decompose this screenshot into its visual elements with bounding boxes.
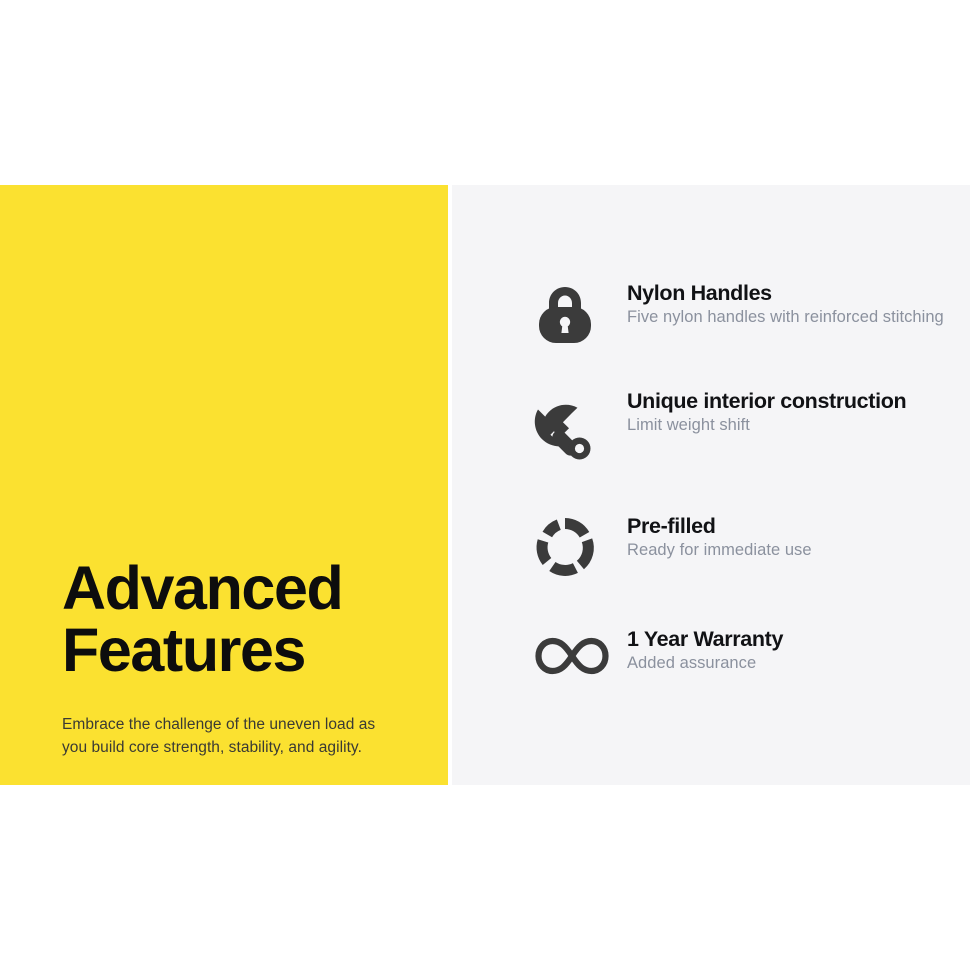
feature-description: Limit weight shift (627, 416, 957, 436)
wrench-icon (532, 400, 598, 466)
feature-text-block: Nylon Handles Five nylon handles with re… (627, 280, 957, 328)
intro-paragraph: Embrace the challenge of the uneven load… (62, 713, 392, 759)
page-title: Advanced Features (62, 557, 432, 681)
segmented-ring-icon (532, 513, 598, 579)
feature-text-block: 1 Year Warranty Added assurance (627, 626, 957, 674)
feature-title: Pre-filled (627, 513, 957, 539)
feature-text-block: Pre-filled Ready for immediate use (627, 513, 957, 561)
right-features-panel: Nylon Handles Five nylon handles with re… (452, 185, 970, 785)
lock-icon (532, 281, 598, 347)
page-title-line-1: Advanced (62, 557, 432, 619)
slide-canvas: Advanced Features Embrace the challenge … (0, 0, 970, 970)
feature-description: Added assurance (627, 654, 957, 674)
feature-title: Nylon Handles (627, 280, 957, 306)
left-yellow-panel: Advanced Features Embrace the challenge … (0, 185, 448, 785)
feature-title: Unique interior construction (627, 388, 957, 414)
feature-title: 1 Year Warranty (627, 626, 957, 652)
infinity-icon (532, 632, 598, 698)
page-title-line-2: Features (62, 619, 432, 681)
feature-description: Ready for immediate use (627, 541, 957, 561)
feature-text-block: Unique interior construction Limit weigh… (627, 388, 957, 436)
feature-description: Five nylon handles with reinforced stitc… (627, 308, 957, 328)
